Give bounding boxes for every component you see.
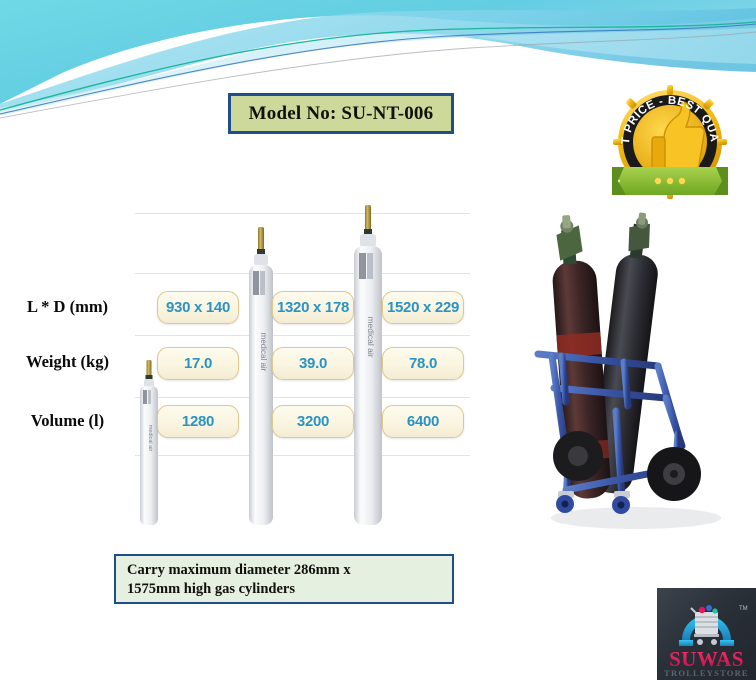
cell-weight-2: 39.0 xyxy=(272,347,354,380)
cylinder-graphic-2: medical air xyxy=(247,227,275,525)
trademark-text: TM xyxy=(739,606,748,612)
cell-weight-3: 78.0 xyxy=(382,347,464,380)
cylinder-label-3: medical air xyxy=(366,316,376,357)
grid-line xyxy=(135,213,470,214)
trolley-wheel xyxy=(647,447,701,501)
trolley-wheel xyxy=(553,431,603,481)
specifications-table: medical air xyxy=(0,205,500,525)
trolley-product-image xyxy=(506,206,756,536)
product-spec-page: Model No: SU-NT-006 xyxy=(0,0,756,680)
row-label-size: L * D (mm) xyxy=(0,297,135,317)
cylinder-graphic-1: medical air xyxy=(138,360,160,525)
grid-line xyxy=(135,455,470,456)
cell-volume-1: 1280 xyxy=(157,405,239,438)
cylinder-graphic-3: medical air xyxy=(352,205,384,525)
model-number-label: Model No: SU-NT-006 xyxy=(249,103,434,125)
row-label-column: L * D (mm) Weight (kg) Volume (l) xyxy=(0,205,135,525)
cell-size-1: 930 x 140 xyxy=(157,291,239,324)
cell-size-3: 1520 x 229 xyxy=(382,291,464,324)
caption-line-2: 1575mm high gas cylinders xyxy=(127,580,443,599)
cell-volume-3: 6400 xyxy=(382,405,464,438)
best-price-badge: BEST PRICE - BEST QUALITY xyxy=(606,79,734,204)
svg-text:TM: TM xyxy=(739,606,748,612)
grid-line xyxy=(135,397,470,398)
cell-volume-2: 3200 xyxy=(272,405,354,438)
caption-box: Carry maximum diameter 286mm x 1575mm hi… xyxy=(114,554,454,604)
cell-weight-1: 17.0 xyxy=(157,347,239,380)
row-label-volume: Volume (l) xyxy=(0,411,135,431)
cylinder-label-1: medical air xyxy=(147,425,153,452)
caption-line-1: Carry maximum diameter 286mm x xyxy=(127,561,443,580)
suwas-logo: TM SUWAS TROLLEYSTORE xyxy=(657,588,756,680)
cell-size-2: 1320 x 178 xyxy=(272,291,354,324)
grid-line xyxy=(135,273,470,274)
shopping-cart-icon xyxy=(691,605,719,645)
cylinder-label-2: medical air xyxy=(259,333,268,372)
logo-sub-text: TROLLEYSTORE xyxy=(664,668,749,678)
grid-line xyxy=(135,335,470,336)
model-number-box: Model No: SU-NT-006 xyxy=(228,93,454,134)
trolley-caster xyxy=(612,491,630,514)
trolley-caster xyxy=(556,491,574,513)
row-label-weight: Weight (kg) xyxy=(0,352,135,372)
